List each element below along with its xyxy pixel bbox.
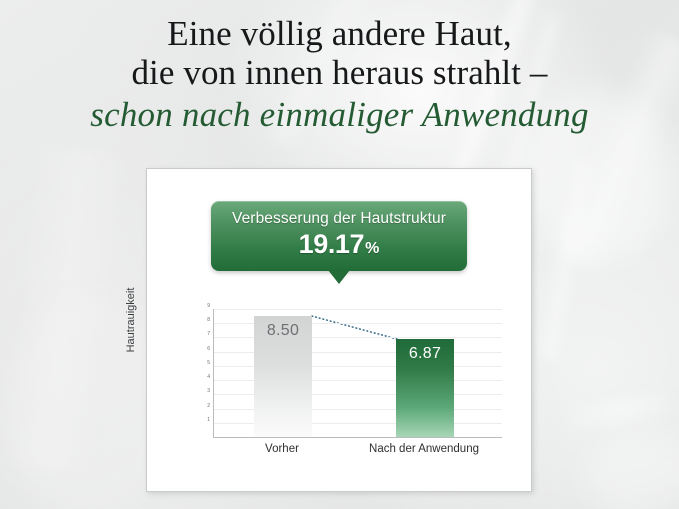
glass-streak xyxy=(539,160,593,360)
y-tick-label: 6 xyxy=(207,347,210,352)
headline: Eine völlig andere Haut, die von innen h… xyxy=(0,16,679,133)
bar-before: 8.50 xyxy=(254,316,312,437)
bar-value-label: 8.50 xyxy=(254,322,312,340)
bar-chart: Hautrauigkeit 9876543218.506.87 Vorher N… xyxy=(177,309,501,469)
y-tick-label: 9 xyxy=(207,304,210,309)
y-tick-label: 8 xyxy=(207,318,210,323)
callout-body: Verbesserung der Hautstruktur 19.17% xyxy=(211,201,467,271)
bar-after: 6.87 xyxy=(396,339,454,437)
headline-line-3-accent: schon nach einmaliger Anwendung xyxy=(0,97,679,133)
headline-line-1: Eine völlig andere Haut, xyxy=(0,16,679,52)
x-label-before: Vorher xyxy=(239,443,325,455)
x-label-after: Nach der Anwendung xyxy=(351,443,497,455)
x-axis-labels: Vorher Nach der Anwendung xyxy=(213,443,501,461)
y-axis-title: Hautrauigkeit xyxy=(125,259,139,381)
chart-card: Verbesserung der Hautstruktur 19.17% Hau… xyxy=(146,168,532,492)
callout-badge: Verbesserung der Hautstruktur 19.17% xyxy=(211,201,467,271)
promo-graphic: Eine völlig andere Haut, die von innen h… xyxy=(0,0,679,509)
callout-value-row: 19.17% xyxy=(211,229,467,260)
callout-unit: % xyxy=(365,240,379,257)
bar-value-label: 6.87 xyxy=(396,345,454,363)
callout-pointer-icon xyxy=(328,270,350,284)
callout-title: Verbesserung der Hautstruktur xyxy=(211,201,467,228)
callout-value: 19.17 xyxy=(299,229,365,259)
y-tick-label: 2 xyxy=(207,404,210,409)
y-tick-label: 7 xyxy=(207,332,210,337)
grid-line: 9 xyxy=(214,309,502,310)
background-blob xyxy=(585,430,679,509)
glass-streak xyxy=(4,146,127,474)
glass-streak xyxy=(559,390,679,433)
y-tick-label: 5 xyxy=(207,361,210,366)
y-tick-label: 1 xyxy=(207,418,210,423)
y-tick-label: 4 xyxy=(207,375,210,380)
trend-line-path xyxy=(312,316,398,339)
plot-area: 9876543218.506.87 xyxy=(213,309,502,438)
y-tick-label: 3 xyxy=(207,389,210,394)
headline-line-2: die von innen heraus strahlt – xyxy=(0,55,679,91)
